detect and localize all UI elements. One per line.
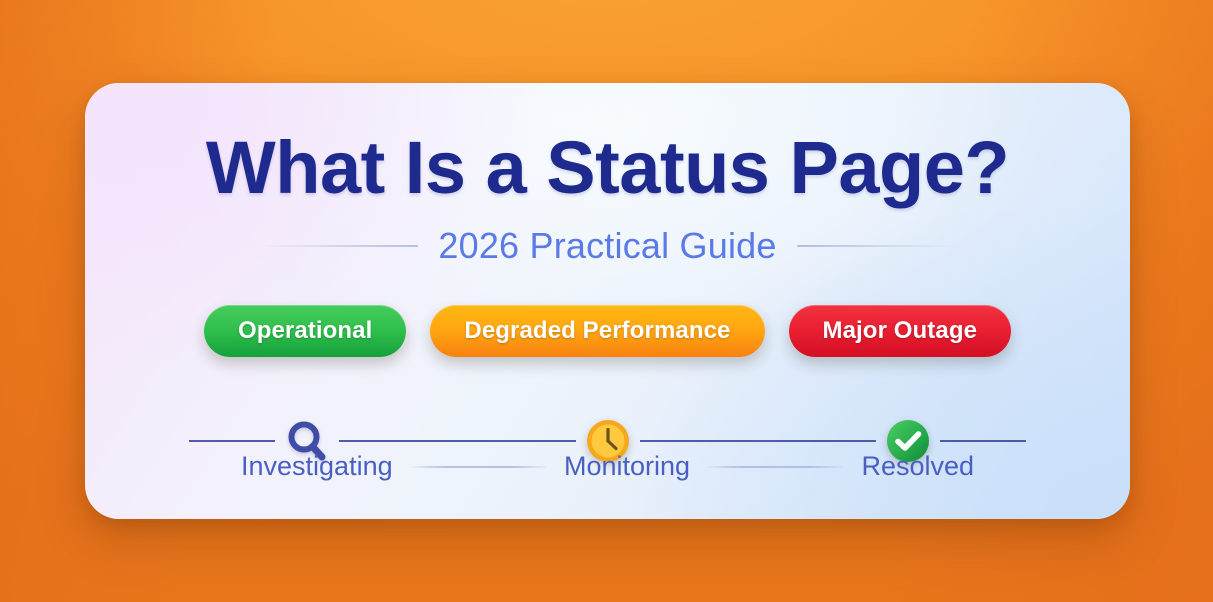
incident-timeline: Investigating Monitoring Resolved — [189, 383, 1026, 483]
timeline-connector-1 — [339, 440, 576, 442]
page-subtitle: 2026 Practical Guide — [438, 225, 776, 267]
timeline-step-label-monitoring: Monitoring — [564, 451, 690, 482]
timeline-connector-start — [189, 440, 275, 442]
status-pill-degraded-performance[interactable]: Degraded Performance — [430, 305, 764, 357]
timeline-connector-2 — [640, 440, 877, 442]
status-pill-major-outage[interactable]: Major Outage — [789, 305, 1012, 357]
timeline-labels: Investigating Monitoring Resolved — [189, 451, 1026, 482]
page-title: What Is a Status Page? — [85, 131, 1130, 205]
timeline-step-label-investigating: Investigating — [241, 451, 393, 482]
timeline-step-label-resolved: Resolved — [861, 451, 974, 482]
subtitle-rule-left — [266, 245, 418, 247]
status-pill-group: Operational Degraded Performance Major O… — [85, 305, 1130, 357]
timeline-connector-end — [940, 440, 1026, 442]
subtitle-row: 2026 Practical Guide — [85, 225, 1130, 267]
subtitle-rule-right — [797, 245, 949, 247]
status-pill-operational[interactable]: Operational — [204, 305, 406, 357]
timeline-label-line-2 — [708, 466, 843, 468]
timeline-label-line-1 — [411, 466, 546, 468]
status-page-card: What Is a Status Page? 2026 Practical Gu… — [85, 83, 1130, 519]
poster-background: What Is a Status Page? 2026 Practical Gu… — [0, 0, 1213, 602]
